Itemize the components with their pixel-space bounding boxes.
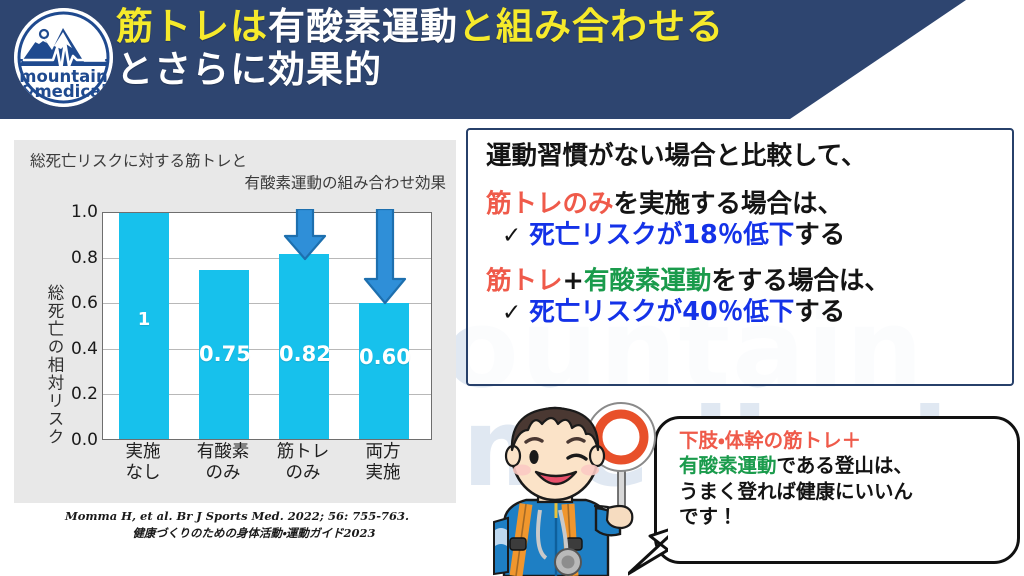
y-tick-0_0: 0.0 xyxy=(71,430,98,450)
x-label-1-line-2: なし xyxy=(106,463,180,484)
bar-kintore-nomi: 0.82 xyxy=(279,254,329,439)
bar-value-label-1: 1 xyxy=(119,309,169,330)
note-line-4-plus: + xyxy=(563,266,584,296)
down-arrow-ryoho xyxy=(357,209,413,307)
bar-value-label-4: 0.60 xyxy=(359,345,409,369)
check-icon-1: ✓ xyxy=(502,223,529,249)
summary-note-box: 運動習慣がない場合と比較して、 筋トレのみを実施する場合は、 ✓死亡リスクが18… xyxy=(466,128,1014,386)
note-line-4: 筋トレ+有酸素運動をする場合は、 xyxy=(486,269,1002,295)
note-line-5: ✓死亡リスクが40％低下する xyxy=(486,300,1002,326)
note-line-4-yusanso: 有酸素運動 xyxy=(584,266,712,296)
x-label-1-line-1: 実施 xyxy=(106,442,180,463)
chart-title-line-1: 総死亡リスクに対する筋トレと xyxy=(30,152,247,170)
chart-citation: Momma H, et al. Br J Sports Med. 2022; 5… xyxy=(14,508,460,543)
bar-chart-panel: 総死亡リスクに対する筋トレと 有酸素運動の組み合わせ効果 総死亡の相対リスク 1… xyxy=(14,140,456,503)
slide-header: mountain &medical 筋トレは有酸素運動と組み合わせる とさらに効… xyxy=(0,0,1024,119)
bubble-line-4: です！ xyxy=(679,504,1005,529)
x-label-2-line-1: 有酸素 xyxy=(186,442,260,463)
bar-value-label-2: 0.75 xyxy=(199,342,249,366)
chart-plot-area: 1 0.75 0.82 0.60 xyxy=(102,212,432,440)
y-tick-0_2: 0.2 xyxy=(71,384,98,404)
chart-y-axis-ticks: 1.0 0.8 0.6 0.4 0.2 0.0 xyxy=(58,212,100,440)
title-line-1: 筋トレは有酸素運動と組み合わせる xyxy=(116,6,724,49)
check-icon-2: ✓ xyxy=(502,300,529,326)
x-label-kintore-nomi: 筋トレ のみ xyxy=(266,442,340,483)
x-label-3-line-1: 筋トレ xyxy=(266,442,340,463)
title-part-kintore: 筋トレは xyxy=(116,5,268,48)
page-title: 筋トレは有酸素運動と組み合わせる とさらに効果的 xyxy=(116,6,724,92)
speech-bubble-tail xyxy=(628,520,682,576)
note-line-4-kintore: 筋トレ xyxy=(486,266,563,296)
chart-x-axis-labels: 実施 なし 有酸素 のみ 筋トレ のみ 両方 実施 xyxy=(102,442,432,498)
y-tick-0_4: 0.4 xyxy=(71,339,98,359)
bar-yusanso-nomi: 0.75 xyxy=(199,270,249,440)
bubble-line-2-highlight: 有酸素運動 xyxy=(679,454,777,477)
x-label-jisshi-nashi: 実施 なし xyxy=(106,442,180,483)
title-part-kumiawaseru: と組み合わせる xyxy=(458,5,724,48)
bar-value-label-3: 0.82 xyxy=(279,342,329,366)
bubble-line-1: 下肢・体幹の筋トレ＋ xyxy=(679,428,1005,453)
bubble-line-2-rest: である登山は、 xyxy=(777,454,913,477)
y-tick-0_8: 0.8 xyxy=(71,248,98,268)
down-arrow-kintore xyxy=(277,209,333,263)
x-label-4-line-1: 両方 xyxy=(346,442,420,463)
x-label-ryoho-jisshi: 両方 実施 xyxy=(346,442,420,483)
chart-title: 総死亡リスクに対する筋トレと 有酸素運動の組み合わせ効果 xyxy=(30,150,448,195)
x-label-yusanso-nomi: 有酸素 のみ xyxy=(186,442,260,483)
note-line-3-rest: する xyxy=(794,220,845,250)
slide-canvas: mountain &medical mountain &medical 筋ト xyxy=(0,0,1024,576)
title-line-2: とさらに効果的 xyxy=(116,49,724,92)
y-tick-0_6: 0.6 xyxy=(71,293,98,313)
note-line-2: 筋トレのみを実施する場合は、 xyxy=(486,192,1002,218)
x-label-3-line-2: のみ xyxy=(266,463,340,484)
chart-title-line-2: 有酸素運動の組み合わせ効果 xyxy=(30,172,448,194)
citation-line-2: 健康づくりのための身体活動・運動ガイド2023 xyxy=(14,525,460,542)
note-line-2-rest: を実施する場合は、 xyxy=(614,189,844,219)
bar-jisshi-nashi: 1 xyxy=(119,213,169,439)
y-tick-1_0: 1.0 xyxy=(71,202,98,222)
note-line-1: 運動習慣がない場合と比較して、 xyxy=(486,144,1002,170)
note-line-5-highlight: 死亡リスクが40％低下 xyxy=(529,297,794,327)
x-label-2-line-2: のみ xyxy=(186,463,260,484)
citation-line-1: Momma H, et al. Br J Sports Med. 2022; 5… xyxy=(14,508,460,525)
bubble-line-2: 有酸素運動である登山は、 xyxy=(679,453,1005,478)
title-part-wa: 有酸素運動 xyxy=(268,5,458,48)
note-line-5-rest: する xyxy=(794,297,845,327)
note-line-2-highlight: 筋トレのみ xyxy=(486,189,614,219)
speech-bubble: 下肢・体幹の筋トレ＋ 有酸素運動である登山は、 うまく登れば健康にいいん です！ xyxy=(654,416,1020,564)
bar-ryoho-jisshi: 0.60 xyxy=(359,303,409,439)
note-line-3: ✓死亡リスクが18％低下する xyxy=(486,223,1002,249)
bubble-line-3: うまく登れば健康にいいん xyxy=(679,479,1005,504)
x-label-4-line-2: 実施 xyxy=(346,463,420,484)
note-line-4-rest: をする場合は、 xyxy=(711,266,890,296)
mountain-and-medical-logo: mountain &medical xyxy=(14,8,113,107)
note-line-3-highlight: 死亡リスクが18％低下 xyxy=(529,220,794,250)
